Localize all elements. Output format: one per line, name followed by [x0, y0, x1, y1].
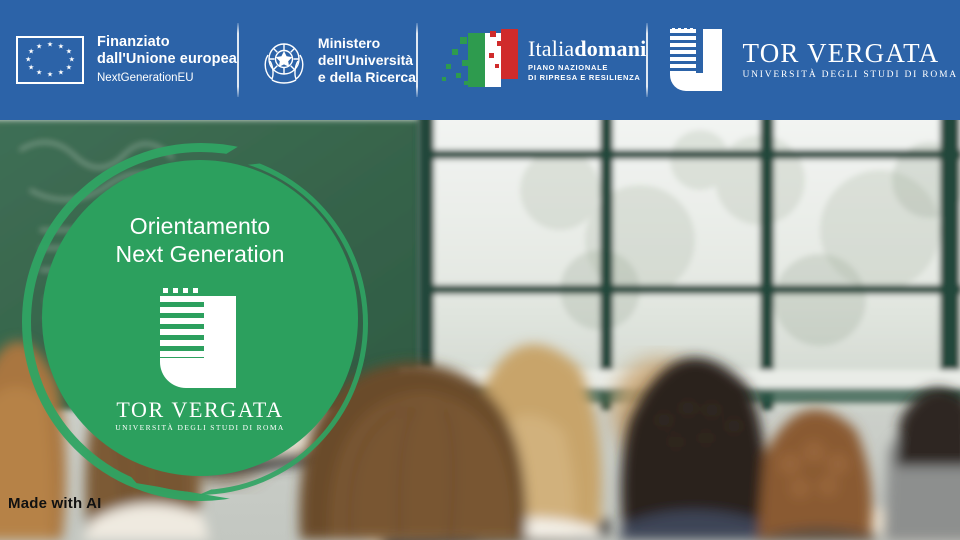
badge-university-name: TOR VERGATA: [116, 398, 283, 422]
eu-line-1: Finanziato: [97, 34, 237, 51]
italian-republic-emblem-icon: [261, 33, 307, 87]
ministry-line-1: Ministero: [318, 35, 416, 52]
italia-domani-sub-2: DI RIPRESA E RESILIENZA: [528, 73, 647, 83]
tor-vergata-text: TOR VERGATA UNIVERSITÀ DEGLI STUDI DI RO…: [742, 39, 958, 81]
italia-domani-sub-1: PIANO NAZIONALE: [528, 63, 647, 73]
logo-eu-funding: ★ ★ ★ ★ ★ ★ ★ ★ ★ ★ ★ ★ Finanziato dall'…: [0, 0, 237, 120]
eu-flag-icon: ★ ★ ★ ★ ★ ★ ★ ★ ★ ★ ★ ★: [16, 36, 84, 84]
logo-ministry: Ministero dell'Università e della Ricerc…: [239, 0, 416, 120]
badge-circle: Orientamento Next Generation TOR VERGATA…: [42, 160, 358, 476]
eu-funding-text: Finanziato dall'Unione europea NextGener…: [97, 34, 237, 87]
badge-university-subtitle: UNIVERSITÀ DEGLI STUDI DI ROMA: [115, 423, 285, 433]
ministry-line-3: e della Ricerca: [318, 69, 416, 86]
logo-tor-vergata: TOR VERGATA UNIVERSITÀ DEGLI STUDI DI RO…: [648, 0, 958, 120]
eu-line-2: dall'Unione europea: [97, 51, 237, 68]
logo-italia-domani: Italiadomani PIANO NAZIONALE DI RIPRESA …: [418, 0, 647, 120]
italian-flag-pixel-icon: [442, 27, 518, 93]
italia-domani-title-part1: Italia: [528, 36, 574, 61]
tor-vergata-title: TOR VERGATA: [742, 39, 958, 68]
ministry-line-2: dell'Università: [318, 52, 416, 69]
italia-domani-text: Italiadomani PIANO NAZIONALE DI RIPRESA …: [528, 37, 647, 83]
institutional-logo-bar: ★ ★ ★ ★ ★ ★ ★ ★ ★ ★ ★ ★ Finanziato dall'…: [0, 0, 960, 120]
ministry-text: Ministero dell'Università e della Ricerc…: [318, 35, 416, 86]
tor-vergata-j-logo-icon: [152, 288, 248, 388]
italia-domani-title: Italiadomani: [528, 37, 647, 60]
eu-line-3: NextGenerationEU: [97, 70, 237, 87]
poster-canvas: ★ ★ ★ ★ ★ ★ ★ ★ ★ ★ ★ ★ Finanziato dall'…: [0, 0, 960, 540]
tor-vergata-j-logo-icon: [670, 29, 728, 91]
italia-domani-title-part2: domani: [574, 36, 646, 61]
tor-vergata-subtitle: UNIVERSITÀ DEGLI STUDI DI ROMA: [742, 69, 958, 81]
orientation-badge: Orientamento Next Generation TOR VERGATA…: [22, 143, 380, 501]
badge-title-line-1: Orientamento: [116, 212, 285, 240]
badge-title-line-2: Next Generation: [116, 240, 285, 268]
made-with-ai-watermark: Made with AI: [8, 495, 102, 512]
badge-title: Orientamento Next Generation: [116, 212, 285, 268]
